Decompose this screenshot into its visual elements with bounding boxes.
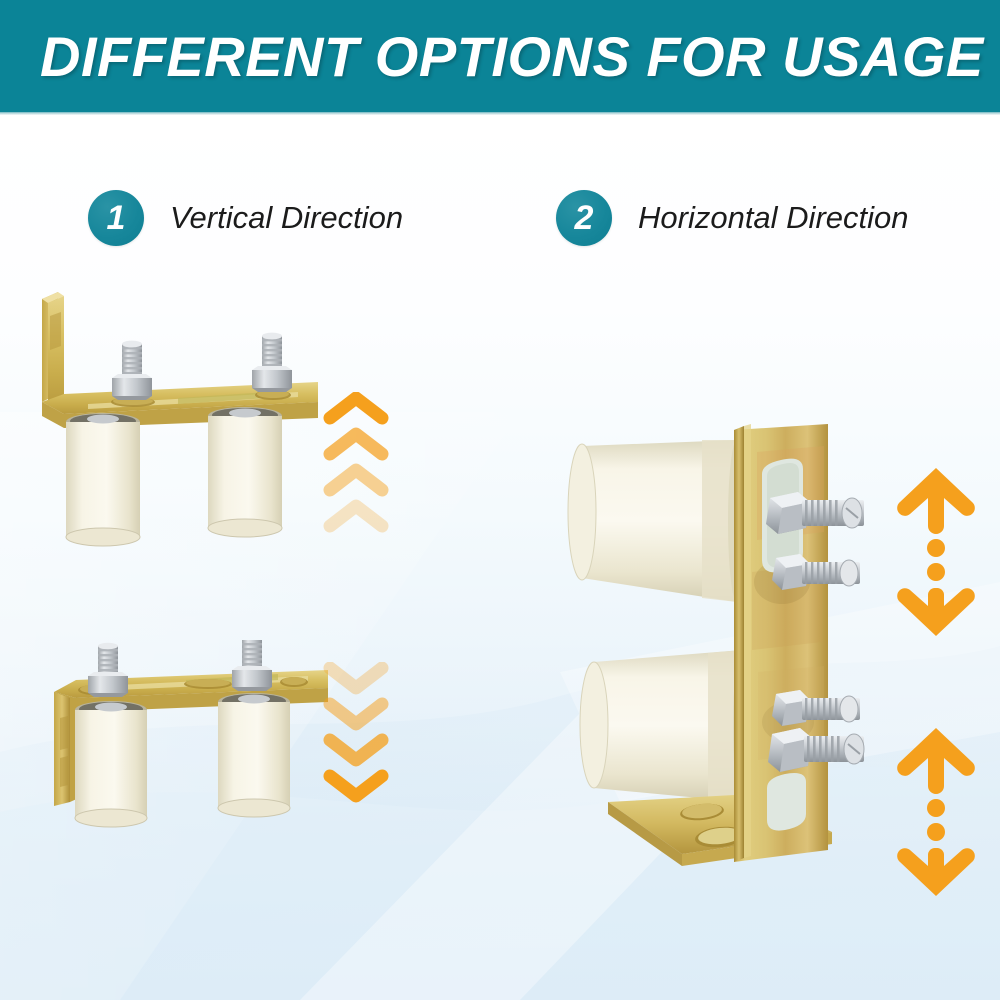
arrow-up-icon [897, 728, 975, 794]
chevron-down-4 [330, 776, 382, 796]
dot-2 [927, 563, 945, 581]
roller-right [218, 693, 290, 817]
roller-right [208, 407, 282, 537]
chevron-down-1 [330, 668, 382, 688]
product-image-bracket-rollers-horizontal [552, 422, 872, 874]
arrow-up-icon [897, 468, 975, 534]
header-underline [0, 112, 1000, 115]
indicator-double-arrow-bottom [886, 722, 986, 902]
bolt-left [112, 341, 152, 400]
step-1-label: Vertical Direction [170, 200, 403, 236]
indicator-chevrons-up [316, 392, 396, 537]
bolt-right [252, 333, 292, 392]
dot-1 [927, 799, 945, 817]
roller-lower [580, 650, 751, 802]
bracket-vertical-plate [734, 424, 828, 862]
chevron-up-4 [330, 506, 382, 526]
dot-1 [927, 539, 945, 557]
product-image-bracket-rollers-up [28, 282, 338, 552]
step-2-number-badge: 2 [556, 190, 612, 246]
chevron-up-3 [330, 470, 382, 490]
step-2-label: Horizontal Direction [638, 200, 909, 236]
infographic-page: DIFFERENT OPTIONS FOR USAGE 1 Vertical D… [0, 0, 1000, 1000]
step-2-heading: 2 Horizontal Direction [556, 190, 909, 246]
step-1-number-badge: 1 [88, 190, 144, 246]
chevron-up-1 [330, 398, 382, 418]
indicator-double-arrow-top [886, 462, 986, 642]
chevron-down-2 [330, 704, 382, 724]
product-image-bracket-rollers-down [36, 640, 336, 865]
roller-upper [568, 440, 746, 602]
roller-left [66, 413, 140, 546]
step-1-heading: 1 Vertical Direction [88, 190, 403, 246]
dot-2 [927, 823, 945, 841]
chevron-down-3 [330, 740, 382, 760]
bolt-right [232, 640, 272, 691]
page-title: DIFFERENT OPTIONS FOR USAGE [40, 22, 990, 92]
bolt-left [88, 643, 128, 697]
chevron-up-2 [330, 434, 382, 454]
slot-hole-lower [767, 773, 806, 831]
indicator-chevrons-down [316, 662, 396, 807]
roller-left [75, 701, 147, 827]
